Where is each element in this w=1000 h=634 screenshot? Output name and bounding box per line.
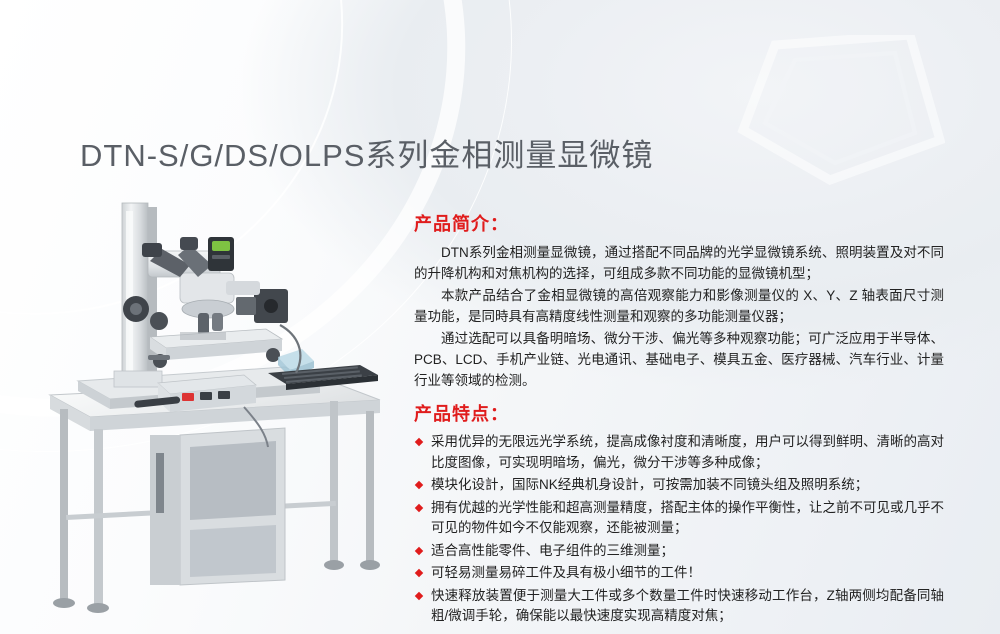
- intro-heading: 产品简介：: [414, 210, 944, 236]
- list-item: 适合高性能零件、电子组件的三维测量；: [414, 541, 944, 562]
- features-heading: 产品特点：: [414, 400, 944, 426]
- list-item: 模块化设計，国际NK经典机身设計，可按需加装不同镜头组及照明系统；: [414, 475, 944, 496]
- bullet-diamond-icon: [415, 591, 423, 599]
- content-column: 产品简介： DTN系列金相测量显微镜，通过搭配不同品牌的光学显微镜系统、照明装置…: [414, 210, 944, 629]
- intro-paragraph-1: DTN系列金相测量显微镜，通过搭配不同品牌的光学显微镜系统、照明装置及对不同的升…: [414, 242, 944, 284]
- bullet-diamond-icon: [415, 503, 423, 511]
- bullet-diamond-icon: [415, 569, 423, 577]
- xy-stage: [148, 329, 282, 368]
- decorative-polygon: [735, 35, 945, 185]
- bullet-diamond-icon: [415, 481, 423, 489]
- microscope-illustration: [30, 185, 400, 625]
- camera-module: [208, 237, 234, 271]
- illuminator: [226, 281, 260, 295]
- intro-paragraph-3: 通过选配可以具备明暗场、微分干涉、偏光等多种观察功能；可广泛应用于半导体、PCB…: [414, 328, 944, 391]
- list-item: 快速释放装置便于测量大工件或多个数量工件时快速移动工作台，Z轴两侧均配备同轴粗/…: [414, 586, 944, 627]
- feature-text: 适合高性能零件、电子组件的三维测量；: [431, 543, 674, 558]
- list-item: 可轻易测量易碎工件及具有极小细节的工件！: [414, 563, 944, 584]
- list-item: 采用优异的无限远光学系统，提高成像衬度和清晰度，用户可以得到鲜明、清晰的高对比度…: [414, 432, 944, 473]
- feature-text: 采用优异的无限远光学系统，提高成像衬度和清晰度，用户可以得到鲜明、清晰的高对比度…: [431, 434, 944, 470]
- objective-turret: [182, 300, 234, 335]
- feature-text: 拥有优越的光学性能和超高测量精度，搭配主体的操作平衡性，让之前不可见或几乎不可见…: [431, 500, 944, 536]
- intro-paragraph-2: 本款产品结合了金相显微镜的高倍观察能力和影像测量仪的 X、Y、Z 轴表面尺寸测量…: [414, 285, 944, 327]
- feature-text: 可轻易测量易碎工件及具有极小细节的工件！: [431, 565, 701, 580]
- bullet-diamond-icon: [415, 546, 423, 554]
- features-list: 采用优异的无限远光学系统，提高成像衬度和清晰度，用户可以得到鲜明、清晰的高对比度…: [414, 432, 944, 627]
- bullet-diamond-icon: [415, 438, 423, 446]
- product-brochure-page: DTN-S/G/DS/OLPS系列金相测量显微镜: [0, 0, 1000, 634]
- feature-text: 模块化设計，国际NK经典机身设計，可按需加装不同镜头组及照明系统；: [431, 477, 868, 492]
- list-item: 拥有优越的光学性能和超高测量精度，搭配主体的操作平衡性，让之前不可见或几乎不可见…: [414, 498, 944, 539]
- cabinet: [150, 428, 285, 585]
- page-title: DTN-S/G/DS/OLPS系列金相测量显微镜: [80, 130, 653, 175]
- feature-text: 快速释放装置便于测量大工件或多个数量工件时快速移动工作台，Z轴两侧均配备同轴粗/…: [431, 588, 944, 624]
